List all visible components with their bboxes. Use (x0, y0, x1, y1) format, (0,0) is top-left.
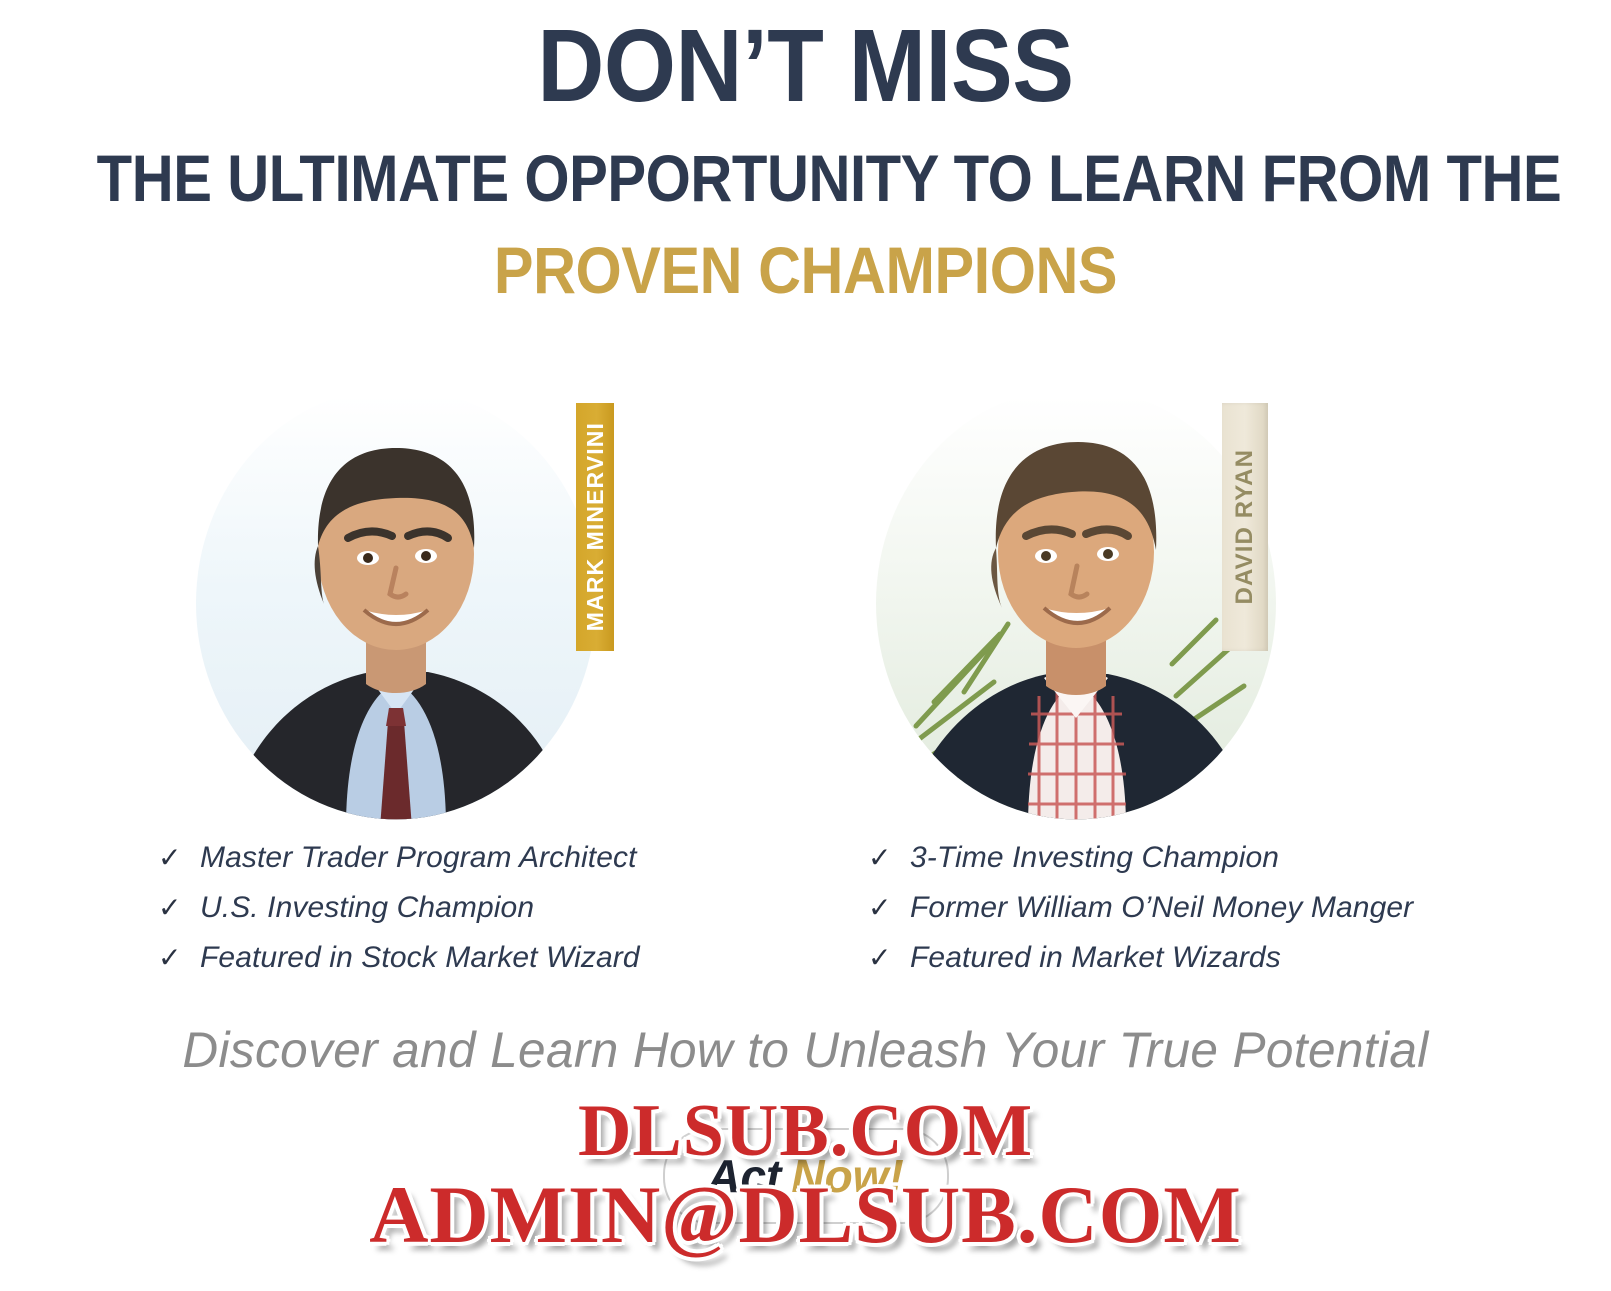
speaker-card-david-ryan: DAVID RYAN (876, 378, 1306, 848)
speaker-name-label: DAVID RYAN (1231, 449, 1259, 604)
speaker-name-label: MARK MINERVINI (582, 422, 609, 631)
credentials-list-mark-minervini: ✓ Master Trader Program Architect ✓ U.S.… (158, 843, 640, 993)
speaker-name-banner-mark-minervini: MARK MINERVINI (576, 403, 614, 651)
check-icon: ✓ (868, 894, 910, 922)
watermark-site: DLSUB.COM (0, 1089, 1611, 1174)
headline-line-2: THE ULTIMATE OPPORTUNITY TO LEARN FROM T… (97, 117, 1515, 211)
list-item: ✓ Master Trader Program Architect (158, 843, 640, 881)
list-item-label: Featured in Market Wizards (910, 943, 1281, 973)
headline-line-3: PROVEN CHAMPIONS (81, 211, 1531, 303)
list-item-label: Former William O’Neil Money Manger (910, 893, 1413, 923)
check-icon: ✓ (158, 894, 200, 922)
list-item: ✓ Featured in Stock Market Wizard (158, 943, 640, 981)
list-item: ✓ Featured in Market Wizards (868, 943, 1413, 981)
tagline: Discover and Learn How to Unleash Your T… (8, 1021, 1603, 1079)
list-item-label: Master Trader Program Architect (200, 843, 637, 873)
watermark-email: ADMIN@DLSUB.COM (0, 1168, 1611, 1262)
speakers-row: MARK MINERVINI (0, 378, 1611, 848)
list-item: ✓ 3-Time Investing Champion (868, 843, 1413, 881)
list-item-label: Featured in Stock Market Wizard (200, 943, 640, 973)
check-icon: ✓ (158, 844, 200, 872)
speaker-photo-mark-minervini (196, 396, 596, 828)
check-icon: ✓ (868, 944, 910, 972)
list-item: ✓ U.S. Investing Champion (158, 893, 640, 931)
list-item-label: 3-Time Investing Champion (910, 843, 1279, 873)
speaker-photo-david-ryan (876, 396, 1276, 828)
check-icon: ✓ (868, 844, 910, 872)
headline-line-1: DON’T MISS (81, 0, 1531, 117)
check-icon: ✓ (158, 944, 200, 972)
headline-block: DON’T MISS THE ULTIMATE OPPORTUNITY TO L… (0, 0, 1611, 303)
speaker-name-banner-david-ryan: DAVID RYAN (1222, 403, 1268, 651)
credentials-list-david-ryan: ✓ 3-Time Investing Champion ✓ Former Wil… (868, 843, 1413, 993)
list-item: ✓ Former William O’Neil Money Manger (868, 893, 1413, 931)
list-item-label: U.S. Investing Champion (200, 893, 534, 923)
speaker-card-mark-minervini: MARK MINERVINI (196, 378, 626, 848)
